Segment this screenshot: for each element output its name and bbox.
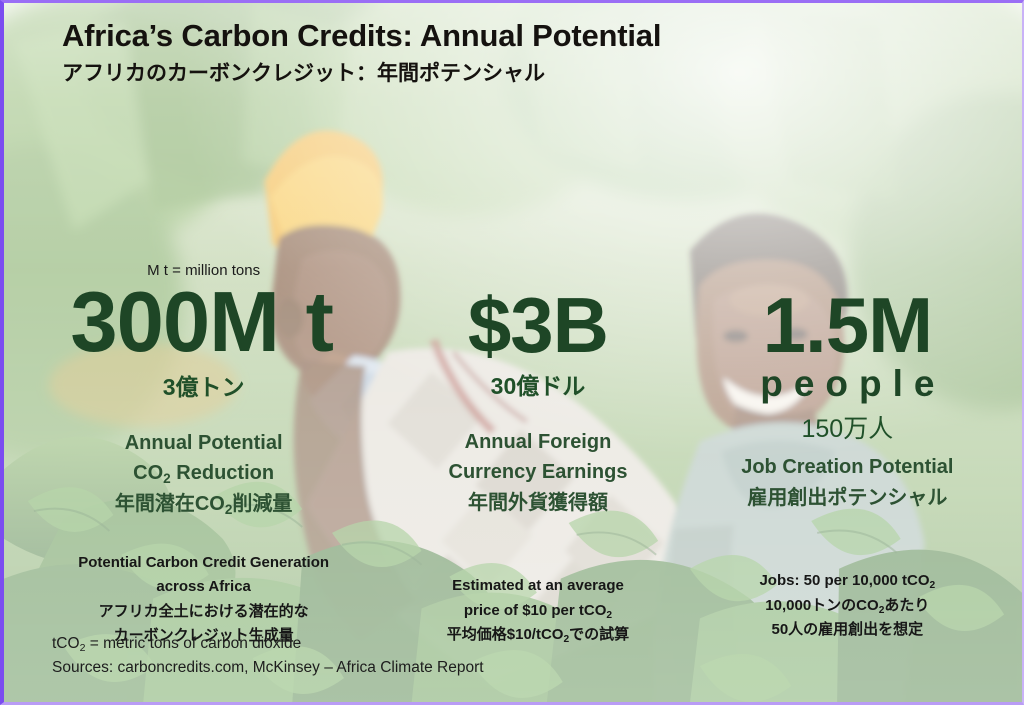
stat-value-carbon-unit: t <box>279 275 337 370</box>
subscript-2: 2 <box>225 501 233 516</box>
subscript-2: 2 <box>563 634 569 645</box>
page-title-ja: アフリカのカーボンクレジット：年間ポテンシャル <box>62 62 661 86</box>
stat-label-earnings-1: Annual Foreign <box>409 427 666 457</box>
stat-value-jobs: 1.5M <box>679 287 1016 363</box>
stat-column-carbon: M t = million tons 300M t 3億トン Annual Po… <box>4 261 403 648</box>
stat-sublabel-earnings-2: price of $10 per tCO2 <box>409 599 666 623</box>
stat-value-carbon-ja: 3億トン <box>28 374 379 402</box>
subscript-2: 2 <box>930 580 936 591</box>
stat-label-jobs-1: Job Creation Potential <box>679 452 1016 482</box>
spacer-note-earnings <box>409 261 666 281</box>
poster-footer: tCO2 = metric tons of carbon dioxide Sou… <box>52 632 484 680</box>
stat-value-jobs-unit: people <box>679 365 1016 402</box>
stat-column-earnings: $3B 30億ドル Annual Foreign Currency Earnin… <box>403 261 672 648</box>
stat-label-earnings-2: Currency Earnings <box>409 457 666 487</box>
stat-value-earnings: $3B <box>409 287 666 363</box>
stat-sublabel-carbon-3: アフリカ全土における潜在的な <box>28 600 379 624</box>
subscript-2: 2 <box>80 642 86 654</box>
infographic-poster: Africa’s Carbon Credits: Annual Potentia… <box>0 0 1024 705</box>
subscript-2: 2 <box>879 604 885 615</box>
subscript-2: 2 <box>163 471 171 486</box>
stat-value-earnings-ja: 30億ドル <box>409 373 666 401</box>
stat-sublabel-earnings-1: Estimated at an average <box>409 574 666 598</box>
stat-value-carbon-main: 300M <box>70 275 279 370</box>
stat-labels-jobs: Job Creation Potential 雇用創出ポテンシャル <box>679 452 1016 513</box>
stat-label-carbon-2: CO2 Reduction <box>28 458 379 488</box>
stat-value-carbon: 300M t <box>28 281 379 364</box>
stat-sublabels-jobs: Jobs: 50 per 10,000 tCO2 10,000トンのCO2あたり… <box>679 569 1016 642</box>
stat-label-earnings-3: 年間外貨獲得額 <box>409 488 666 518</box>
stat-label-carbon-1: Annual Potential <box>28 428 379 458</box>
stat-value-jobs-ja: 150万人 <box>679 414 1016 444</box>
page-title-en: Africa’s Carbon Credits: Annual Potentia… <box>62 19 661 53</box>
subscript-2: 2 <box>606 609 612 620</box>
stat-sublabel-jobs-2: 10,000トンのCO2あたり <box>679 594 1016 618</box>
footnote-definition: tCO2 = metric tons of carbon dioxide <box>52 632 484 656</box>
poster-header: Africa’s Carbon Credits: Annual Potentia… <box>62 19 661 86</box>
stat-label-jobs-2: 雇用創出ポテンシャル <box>679 483 1016 513</box>
stat-sublabel-carbon-1: Potential Carbon Credit Generation <box>28 551 379 575</box>
stat-column-jobs: 1.5M people 150万人 Job Creation Potential… <box>673 261 1022 648</box>
stat-label-carbon-3: 年間潜在CO2削減量 <box>28 489 379 519</box>
spacer-note-jobs <box>679 261 1016 281</box>
stat-labels-carbon: Annual Potential CO2 Reduction 年間潜在CO2削減… <box>28 428 379 519</box>
stat-labels-earnings: Annual Foreign Currency Earnings 年間外貨獲得額 <box>409 427 666 518</box>
stat-sublabel-carbon-2: across Africa <box>28 575 379 599</box>
stats-row: M t = million tons 300M t 3億トン Annual Po… <box>4 261 1022 648</box>
stat-sublabel-jobs-1: Jobs: 50 per 10,000 tCO2 <box>679 569 1016 593</box>
footnote-sources: Sources: carboncredits.com, McKinsey – A… <box>52 656 484 680</box>
stat-sublabel-jobs-3: 50人の雇用創出を想定 <box>679 618 1016 642</box>
